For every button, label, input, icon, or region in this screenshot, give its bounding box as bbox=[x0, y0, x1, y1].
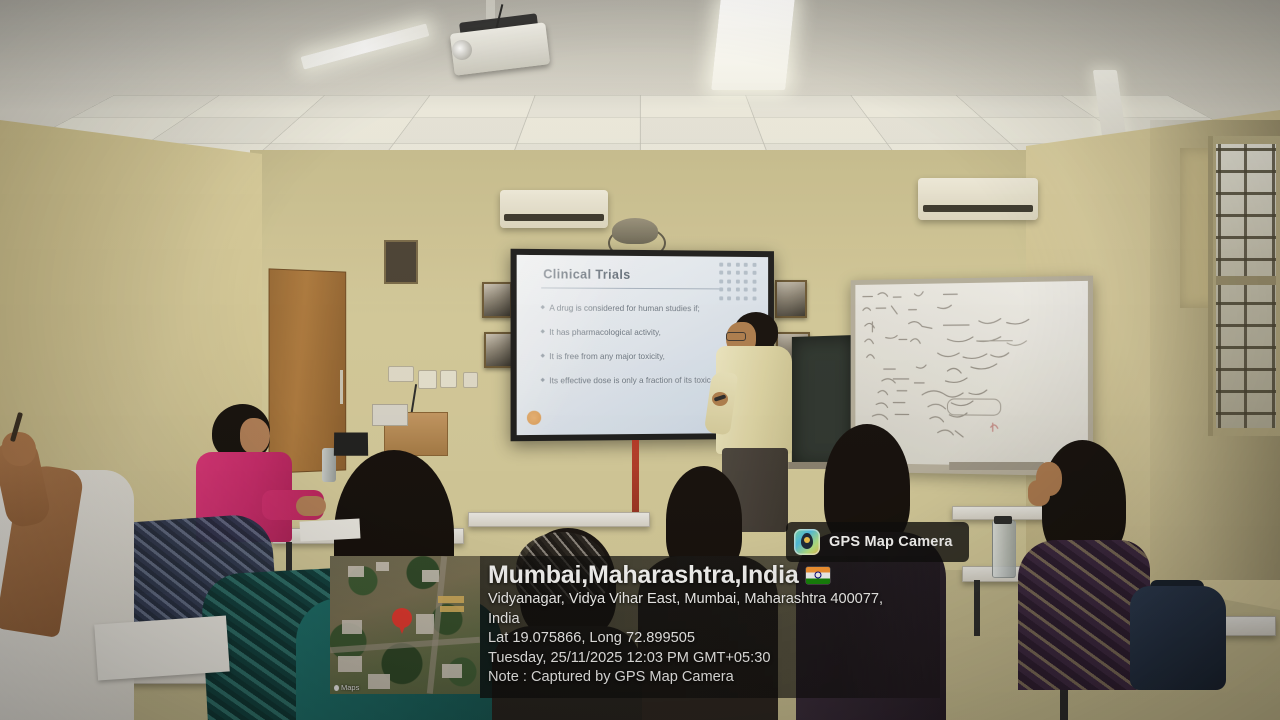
door-handle[interactable] bbox=[340, 370, 343, 404]
slide-dot-decoration bbox=[719, 263, 758, 303]
air-conditioner-left bbox=[500, 190, 608, 228]
gps-map-camera-icon bbox=[794, 529, 820, 555]
bullet-marker-icon bbox=[541, 353, 545, 357]
map-attribution-label: Maps bbox=[341, 683, 359, 692]
map-attribution: Maps bbox=[334, 683, 359, 692]
bullet-marker-icon bbox=[541, 305, 545, 309]
attendee-pink-hand bbox=[296, 496, 326, 516]
desk-leg bbox=[974, 580, 980, 636]
india-flag-icon bbox=[806, 567, 830, 584]
presenter-glasses bbox=[726, 332, 746, 341]
slide-bullet-text: Its effective dose is only a fraction of… bbox=[549, 376, 732, 386]
wall-fan bbox=[612, 218, 658, 244]
laptop[interactable] bbox=[334, 432, 368, 455]
paper-stack bbox=[372, 404, 408, 426]
wall-frame-dark bbox=[384, 240, 418, 284]
framed-portrait-1 bbox=[482, 282, 512, 318]
map-location-pin bbox=[392, 608, 412, 634]
photo-canvas: Clinical Trials A drug is considered for… bbox=[0, 0, 1280, 720]
framed-portrait-2 bbox=[484, 332, 514, 368]
window-divider bbox=[1216, 276, 1276, 285]
paper-sheet bbox=[300, 518, 361, 541]
gps-timestamp: Tuesday, 25/11/2025 12:03 PM GMT+05:30 bbox=[488, 649, 940, 669]
bullet-marker-icon bbox=[541, 378, 545, 382]
gps-stamp-panel: Maps Mumbai,Maharashtra,India Vidyanagar… bbox=[330, 556, 940, 698]
gps-app-name: GPS Map Camera bbox=[829, 534, 953, 550]
whiteboard-marker-tray bbox=[949, 462, 1044, 470]
apple-logo-icon bbox=[334, 685, 339, 691]
water-bottle-cap bbox=[994, 516, 1012, 524]
attendee-pink-face bbox=[240, 418, 270, 454]
gps-note: Note : Captured by GPS Map Camera bbox=[488, 668, 940, 688]
bullet-marker-icon bbox=[541, 329, 545, 333]
power-socket-2[interactable] bbox=[440, 370, 457, 388]
gps-coordinates: Lat 19.075866, Long 72.899505 bbox=[488, 629, 940, 649]
framed-portrait-3 bbox=[775, 280, 807, 318]
notebook-page bbox=[94, 615, 230, 680]
air-conditioner-right bbox=[918, 178, 1038, 220]
ceiling-light-panel bbox=[711, 0, 795, 90]
map-pin-icon bbox=[801, 533, 813, 549]
foreground-person-hand bbox=[2, 432, 36, 466]
gps-address-line-1: Vidyanagar, Vidya Vihar East, Mumbai, Ma… bbox=[488, 590, 940, 610]
gps-city-label: Mumbai,Maharashtra,India bbox=[488, 560, 799, 590]
gps-address-line-2: India bbox=[488, 610, 940, 630]
water-bottle bbox=[992, 520, 1016, 578]
light-switch-panel[interactable] bbox=[388, 366, 414, 382]
desk bbox=[468, 512, 650, 527]
attendee-purple-hand bbox=[1028, 480, 1050, 506]
slide-title-rule bbox=[541, 287, 723, 289]
slide-bullet: It has pharmacological activity, bbox=[549, 328, 754, 338]
slide-bullet-text: It is free from any major toxicity, bbox=[549, 352, 665, 361]
gps-city-line: Mumbai,Maharashtra,India bbox=[488, 560, 940, 590]
slide-bullet-text: It has pharmacological activity, bbox=[549, 328, 661, 337]
gps-text-block: Mumbai,Maharashtra,India Vidyanagar, Vid… bbox=[480, 556, 940, 698]
backpack bbox=[1130, 586, 1226, 690]
slide-title: Clinical Trials bbox=[543, 267, 630, 282]
power-socket-1[interactable] bbox=[418, 370, 437, 389]
gps-map-thumbnail[interactable]: Maps bbox=[330, 556, 480, 694]
slide-corner-logo bbox=[527, 411, 541, 425]
power-socket-3[interactable] bbox=[463, 372, 478, 388]
slide-bullet: A drug is considered for human studies i… bbox=[549, 304, 754, 315]
slide-bullet-text: A drug is considered for human studies i… bbox=[549, 304, 699, 314]
